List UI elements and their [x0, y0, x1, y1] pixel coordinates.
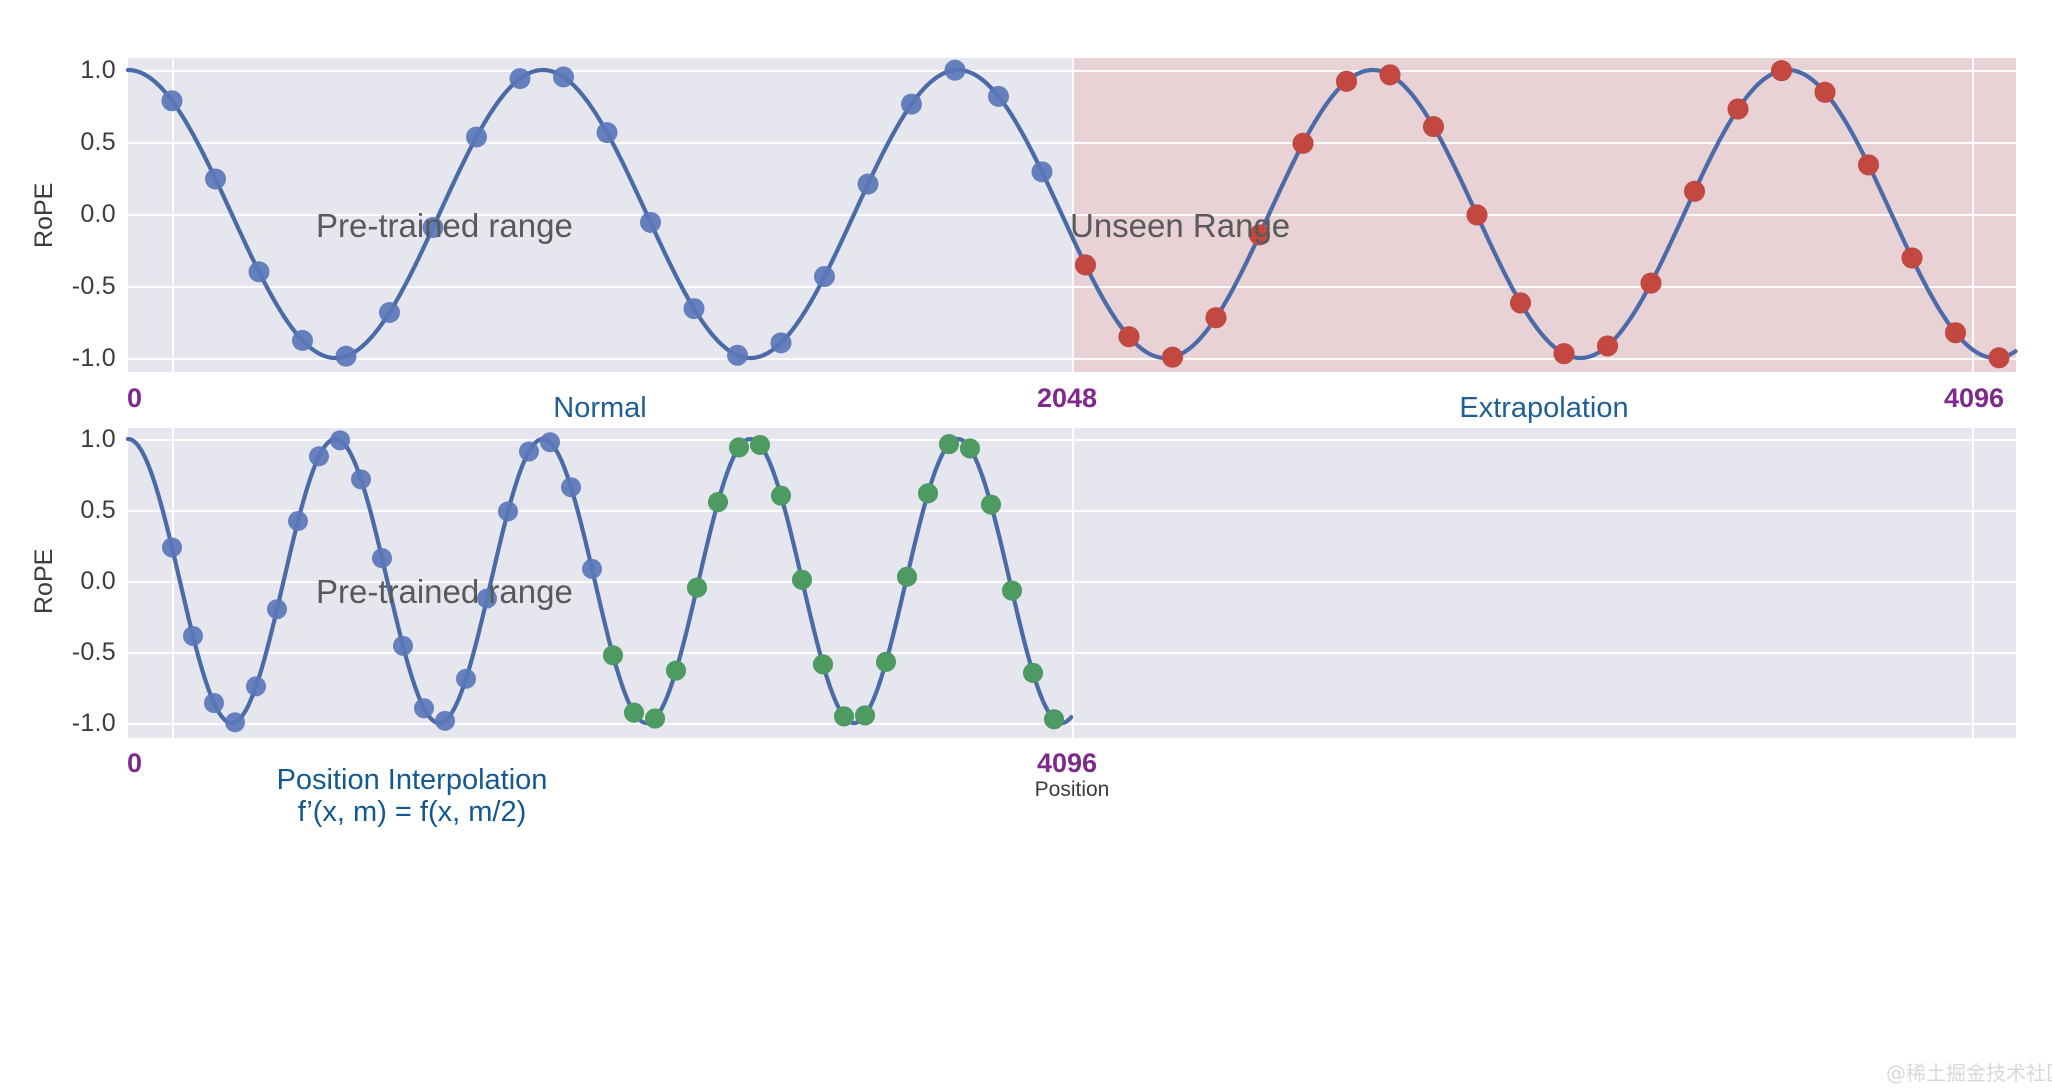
caption-pi-formula: f’(x, m) = f(x, m/2) [212, 796, 612, 829]
annotation-pretrained-bottom: Pre-trained range [316, 573, 573, 611]
bottom-xtick-0: 0 [127, 748, 142, 779]
bottom-xtick-4096: 4096 [1037, 748, 1097, 779]
watermark: @稀土掘金技术社区 [1886, 1057, 2052, 1086]
bottom-x-axis-label: Position [972, 778, 1172, 802]
caption-position-interpolation: Position Interpolation [212, 764, 612, 797]
bottom-panel: RoPE 1.0 0.5 0.0 -0.5 -1.0 Pre-trained r… [0, 0, 2052, 1092]
bottom-chart-canvas [0, 0, 2052, 1092]
